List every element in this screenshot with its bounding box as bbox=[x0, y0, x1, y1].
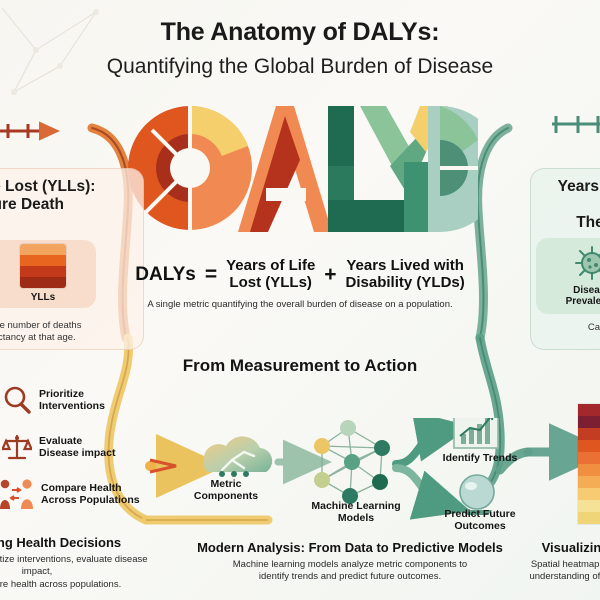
equation-term1-line1: Years of Life bbox=[226, 257, 315, 274]
timeline-right bbox=[552, 116, 600, 133]
bottom-right-body-2: understanding of disease burden. bbox=[500, 571, 600, 583]
action-prioritize-text: Prioritize Interventions bbox=[39, 388, 105, 413]
infographic-canvas: The Anatomy of DALYs: Quantifying the Gl… bbox=[0, 0, 600, 600]
equation-equals: = bbox=[205, 263, 217, 287]
action-1-line2: Disease impact bbox=[39, 447, 115, 459]
timeline-left bbox=[0, 124, 48, 138]
equation-plus: + bbox=[324, 263, 336, 287]
yll-heading-line2: Premature Death bbox=[0, 196, 142, 214]
action-compare-text: Compare Health Across Populations bbox=[41, 482, 140, 507]
yld-note-line1: Calculated from prevalence and bbox=[530, 322, 600, 334]
page-subtitle: Quantifying the Global Burden of Disease bbox=[0, 55, 600, 79]
pipeline-source-label: Metric Components bbox=[176, 478, 276, 503]
yll-note-line1: Calculated from the number of deaths bbox=[0, 320, 142, 332]
pipeline-out2-line1: Predict Future bbox=[444, 508, 515, 520]
letter-d2 bbox=[428, 106, 478, 232]
pipeline-output-predict-label: Predict Future Outcomes bbox=[428, 508, 532, 533]
section-band-label: From Measurement to Action bbox=[0, 356, 600, 376]
action-evaluate-text: Evaluate Disease impact bbox=[39, 435, 115, 460]
yll-panel-heading: Years of Life Lost (YLLs): Premature Dea… bbox=[0, 178, 142, 214]
equation-lhs: DALYs bbox=[135, 264, 196, 286]
daly-wordmark bbox=[128, 100, 478, 248]
action-item-prioritize[interactable]: Prioritize Interventions bbox=[2, 385, 105, 415]
trend-chart-icon bbox=[454, 418, 498, 448]
action-0-line1: Prioritize bbox=[39, 388, 84, 400]
pipeline-out2-line2: Outcomes bbox=[454, 520, 505, 532]
bottom-center-heading: Modern Analysis: From Data to Predictive… bbox=[180, 540, 520, 555]
cloud-icon bbox=[204, 436, 272, 477]
action-2-line1: Compare Health bbox=[41, 482, 122, 494]
magnifier-icon bbox=[2, 385, 32, 415]
equation-term-ylds: Years Lived with Disability (YLDs) bbox=[346, 258, 465, 292]
bottom-center-body-1: Machine learning models analyze metric c… bbox=[180, 559, 520, 571]
pipeline-model-line2: Models bbox=[338, 512, 374, 524]
heatmap-legend-strip bbox=[578, 404, 600, 524]
yll-note-line2: and the life expectancy at that age. bbox=[0, 332, 142, 344]
pipeline-source-line1: Metric bbox=[211, 478, 242, 490]
pipeline-source-line2: Components bbox=[194, 490, 258, 502]
bottom-right-heading: Visualizing Burden bbox=[500, 540, 600, 555]
equation-term-ylls: Years of Life Lost (YLLs) bbox=[226, 258, 315, 292]
pipeline-output-trends-label: Identify Trends bbox=[428, 452, 532, 464]
yld-panel-heading: Years Lived with Disability (YLDs): The … bbox=[530, 178, 600, 231]
bottom-center-body-2: identify trends and predict future outco… bbox=[180, 571, 520, 583]
action-2-line2: Across Populations bbox=[41, 494, 140, 506]
action-0-line2: Interventions bbox=[39, 400, 105, 412]
pipeline-model-line1: Machine Learning bbox=[311, 500, 400, 512]
scales-icon bbox=[2, 432, 32, 462]
pipeline-model-label: Machine Learning Models bbox=[296, 500, 416, 525]
action-1-line1: Evaluate bbox=[39, 435, 82, 447]
yld-note-line2: a disability weight. bbox=[530, 334, 600, 346]
bottom-right-body-1: Spatial heatmaps reveal regional bbox=[500, 559, 600, 571]
bottom-right-caption: Visualizing Burden Spatial heatmaps reve… bbox=[500, 540, 600, 584]
bottom-left-body-1: DALYs help prioritize interventions, eva… bbox=[0, 554, 162, 579]
bottom-center-caption: Modern Analysis: From Data to Predictive… bbox=[180, 540, 520, 584]
page-title: The Anatomy of DALYs: bbox=[0, 18, 600, 47]
yld-panel-note: Calculated from prevalence and a disabil… bbox=[530, 322, 600, 346]
yld-heading-line1: Years Lived with Disability (YLDs): bbox=[530, 178, 600, 214]
bottom-left-caption: Informing Health Decisions DALYs help pr… bbox=[0, 535, 162, 591]
people-icon bbox=[0, 478, 34, 510]
neural-network-icon bbox=[314, 420, 390, 504]
equation-term2-line1: Years Lived with bbox=[346, 257, 464, 274]
dalys-equation: DALYs = Years of Life Lost (YLLs) + Year… bbox=[0, 258, 600, 310]
letter-d-donut bbox=[128, 106, 252, 230]
bottom-left-body-2: and compare health across populations. bbox=[0, 579, 162, 591]
letter-a bbox=[238, 106, 332, 232]
bottom-left-heading: Informing Health Decisions bbox=[0, 535, 162, 550]
yll-panel-note: Calculated from the number of deaths and… bbox=[0, 320, 142, 344]
equation-term1-line2: Lost (YLLs) bbox=[229, 274, 312, 291]
yld-heading-line2: The Burden of Illness bbox=[530, 214, 600, 232]
equation-note: A single metric quantifying the overall … bbox=[0, 299, 600, 310]
action-item-compare[interactable]: Compare Health Across Populations bbox=[0, 478, 140, 510]
equation-term2-line2: Disability (YLDs) bbox=[346, 274, 465, 291]
action-item-evaluate[interactable]: Evaluate Disease impact bbox=[2, 432, 115, 462]
yll-heading-line1: Years of Life Lost (YLLs): bbox=[0, 178, 142, 196]
